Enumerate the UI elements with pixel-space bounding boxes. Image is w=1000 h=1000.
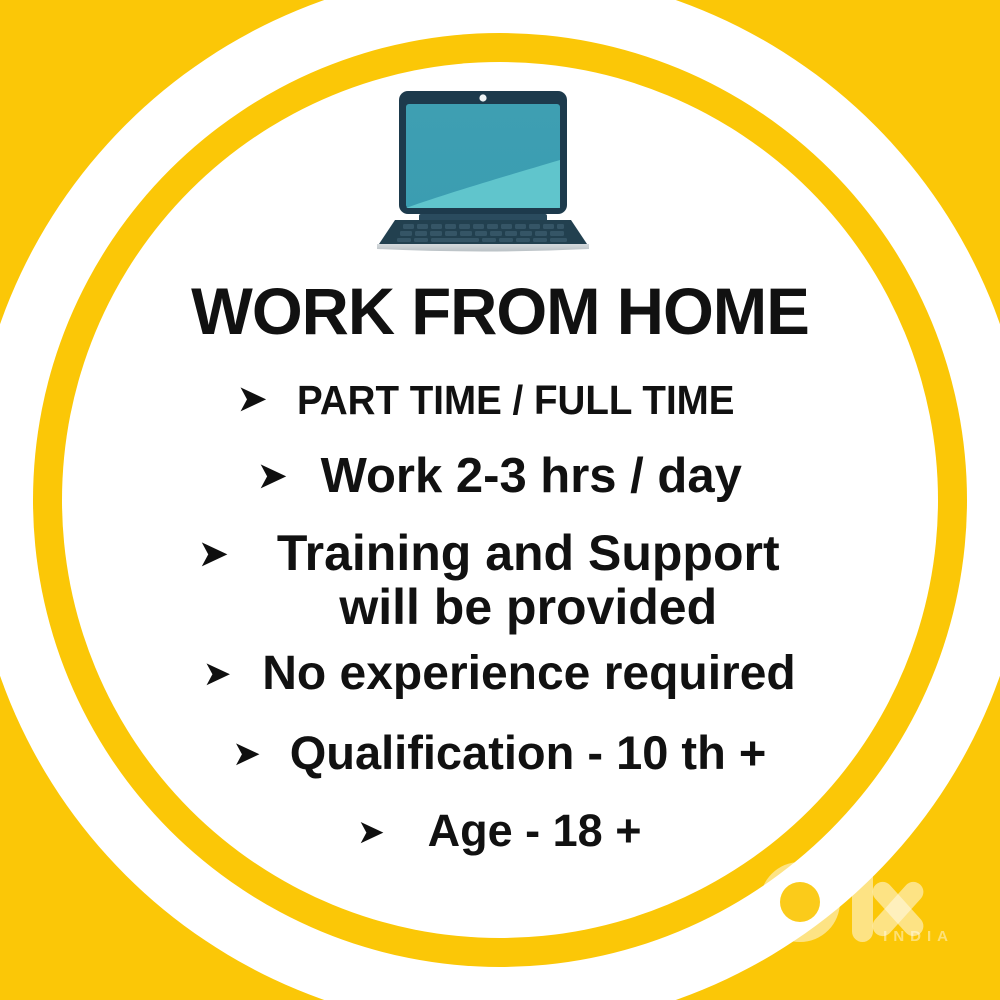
poster-content: WORK FROM HOME ➤ PART TIME / FULL TIME ➤… [0,0,1000,1000]
bullet-item-work-hours: ➤ Work 2-3 hrs / day [0,450,1000,504]
arrow-bullet-icon: ➤ [359,818,384,848]
poster-canvas: WORK FROM HOME ➤ PART TIME / FULL TIME ➤… [0,0,1000,1000]
page-title: WORK FROM HOME [5,278,995,344]
bullet-text-no-experience: No experience required [262,648,796,701]
olx-watermark-sub: INDIA [883,928,954,945]
laptop-icon [373,88,593,253]
bullet-item-part-full-time: ➤ PART TIME / FULL TIME [0,378,1000,423]
arrow-bullet-icon: ➤ [234,738,260,769]
bullet-item-no-experience: ➤ No experience required [0,648,1000,701]
arrow-bullet-icon: ➤ [199,537,228,571]
bullet-item-qualification: ➤ Qualification - 10 th + [0,727,1000,779]
arrow-bullet-icon: ➤ [204,658,230,689]
bullet-item-training-support: ➤ Training and Support will be provided [0,527,1000,634]
arrow-bullet-icon: ➤ [238,382,267,416]
bullet-text-age: Age - 18 + [428,806,642,856]
bullet-text-qualification: Qualification - 10 th + [290,727,767,779]
arrow-bullet-icon: ➤ [258,459,287,493]
bullet-text-training-support: Training and Support will be provided [256,527,801,634]
bullet-text-part-full-time: PART TIME / FULL TIME [297,378,734,423]
olx-watermark-logo [754,852,964,962]
bullet-text-work-hours: Work 2-3 hrs / day [321,450,742,504]
bullet-item-age: ➤ Age - 18 + [0,806,1000,856]
